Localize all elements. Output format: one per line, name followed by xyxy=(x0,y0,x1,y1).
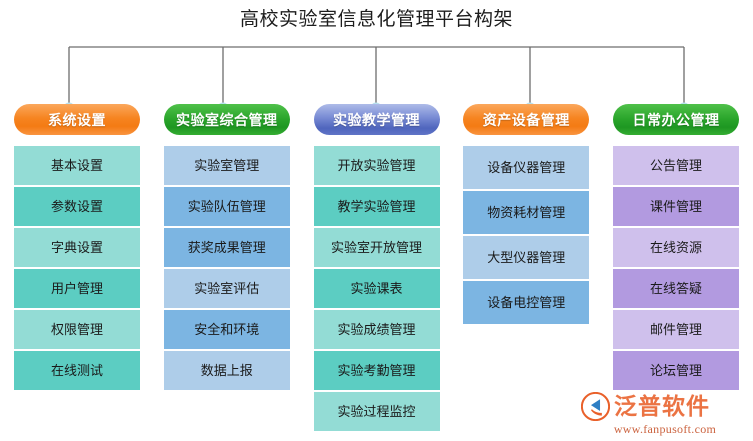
node-item[interactable]: 实验过程监控 xyxy=(314,392,440,431)
node-item[interactable]: 物资耗材管理 xyxy=(463,191,589,234)
node-item[interactable]: 实验室评估 xyxy=(164,269,290,308)
node-item[interactable]: 设备仪器管理 xyxy=(463,146,589,189)
node-item[interactable]: 在线资源 xyxy=(613,228,739,267)
node-item[interactable]: 用户管理 xyxy=(14,269,140,308)
columns-container: 系统设置 基本设置 参数设置 字典设置 用户管理 权限管理 在线测试 实验室综合… xyxy=(0,104,753,441)
column-items-lab-comprehensive-management: 实验室管理 实验队伍管理 获奖成果管理 实验室评估 安全和环境 数据上报 xyxy=(164,146,290,390)
column-header-experiment-teaching-management[interactable]: 实验教学管理 xyxy=(314,104,440,135)
node-item[interactable]: 实验室开放管理 xyxy=(314,228,440,267)
node-item[interactable]: 实验成绩管理 xyxy=(314,310,440,349)
node-item[interactable]: 实验队伍管理 xyxy=(164,187,290,226)
column-header-daily-office-management[interactable]: 日常办公管理 xyxy=(613,104,739,135)
node-item[interactable]: 字典设置 xyxy=(14,228,140,267)
column-items-system-settings: 基本设置 参数设置 字典设置 用户管理 权限管理 在线测试 xyxy=(14,146,140,390)
column-items-asset-equipment-management: 设备仪器管理 物资耗材管理 大型仪器管理 设备电控管理 xyxy=(463,146,589,324)
org-chart-diagram: 高校实验室信息化管理平台构架 系统设置 基本设置 参数设置 字典设置 用户管理 … xyxy=(0,0,753,441)
node-item[interactable]: 参数设置 xyxy=(14,187,140,226)
column-items-experiment-teaching-management: 开放实验管理 教学实验管理 实验室开放管理 实验课表 实验成绩管理 实验考勤管理… xyxy=(314,146,440,431)
node-item[interactable]: 实验考勤管理 xyxy=(314,351,440,390)
column-system-settings: 系统设置 基本设置 参数设置 字典设置 用户管理 权限管理 在线测试 xyxy=(10,104,144,441)
node-item[interactable]: 安全和环境 xyxy=(164,310,290,349)
column-header-asset-equipment-management[interactable]: 资产设备管理 xyxy=(463,104,589,135)
node-item[interactable]: 在线测试 xyxy=(14,351,140,390)
column-experiment-teaching-management: 实验教学管理 开放实验管理 教学实验管理 实验室开放管理 实验课表 实验成绩管理… xyxy=(310,104,444,441)
node-item[interactable]: 教学实验管理 xyxy=(314,187,440,226)
column-lab-comprehensive-management: 实验室综合管理 实验室管理 实验队伍管理 获奖成果管理 实验室评估 安全和环境 … xyxy=(160,104,294,441)
page-title: 高校实验室信息化管理平台构架 xyxy=(0,6,753,34)
node-item[interactable]: 权限管理 xyxy=(14,310,140,349)
node-item[interactable]: 实验课表 xyxy=(314,269,440,308)
node-item[interactable]: 论坛管理 xyxy=(613,351,739,390)
node-item[interactable]: 基本设置 xyxy=(14,146,140,185)
node-item[interactable]: 数据上报 xyxy=(164,351,290,390)
column-header-system-settings[interactable]: 系统设置 xyxy=(14,104,140,135)
node-item[interactable]: 邮件管理 xyxy=(613,310,739,349)
node-item[interactable]: 课件管理 xyxy=(613,187,739,226)
node-item[interactable]: 获奖成果管理 xyxy=(164,228,290,267)
column-asset-equipment-management: 资产设备管理 设备仪器管理 物资耗材管理 大型仪器管理 设备电控管理 xyxy=(459,104,593,441)
node-item[interactable]: 设备电控管理 xyxy=(463,281,589,324)
column-daily-office-management: 日常办公管理 公告管理 课件管理 在线资源 在线答疑 邮件管理 论坛管理 xyxy=(609,104,743,441)
node-item[interactable]: 实验室管理 xyxy=(164,146,290,185)
column-items-daily-office-management: 公告管理 课件管理 在线资源 在线答疑 邮件管理 论坛管理 xyxy=(613,146,739,390)
node-item[interactable]: 开放实验管理 xyxy=(314,146,440,185)
node-item[interactable]: 在线答疑 xyxy=(613,269,739,308)
node-item[interactable]: 大型仪器管理 xyxy=(463,236,589,279)
column-header-lab-comprehensive-management[interactable]: 实验室综合管理 xyxy=(164,104,290,135)
node-item[interactable]: 公告管理 xyxy=(613,146,739,185)
